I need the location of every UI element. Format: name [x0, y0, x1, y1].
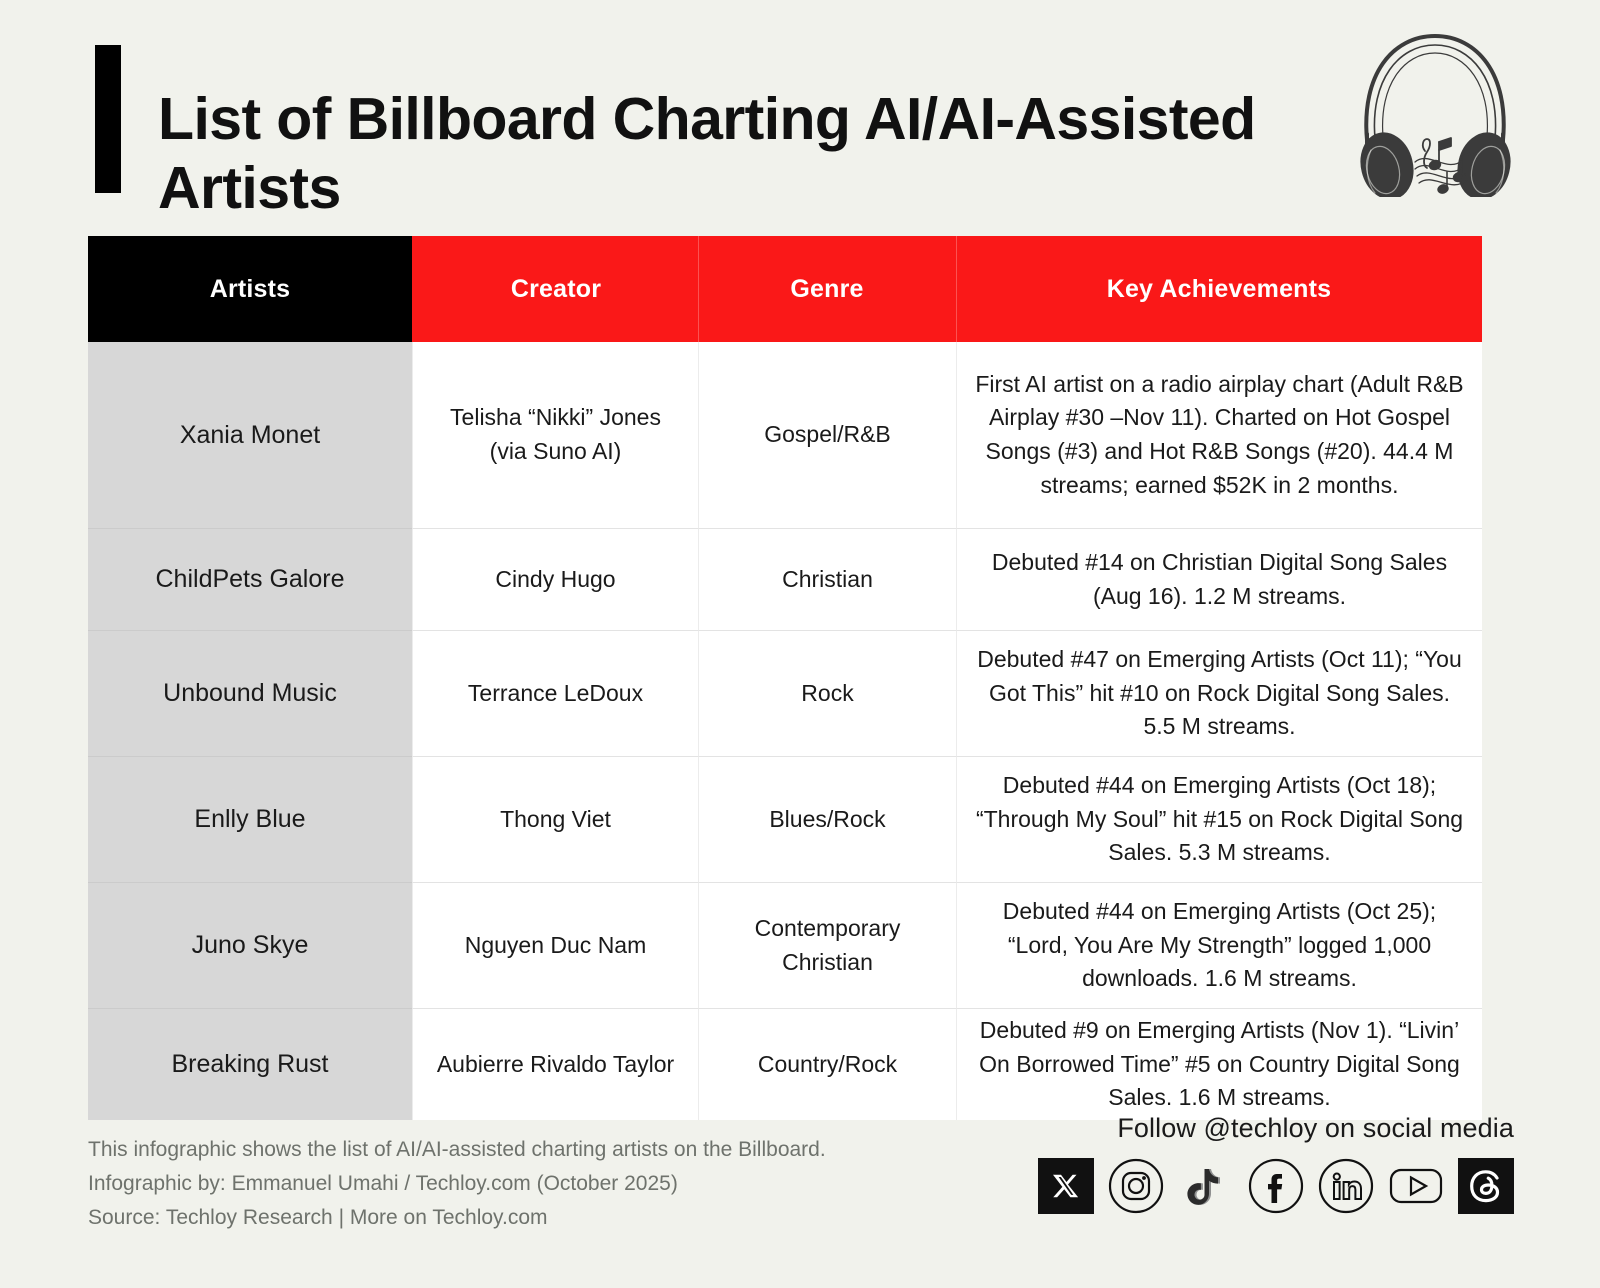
title-accent-bar [95, 45, 121, 193]
column-header-genre: Genre [698, 236, 956, 342]
table-row: ChildPets Galore Cindy Hugo Christian De… [88, 528, 1482, 630]
instagram-icon[interactable] [1108, 1158, 1164, 1214]
cell-genre: Gospel/R&B [698, 342, 956, 528]
cell-creator: Telisha “Nikki” Jones (via Suno AI) [412, 342, 698, 528]
table-row: Enlly Blue Thong Viet Blues/Rock Debuted… [88, 756, 1482, 882]
cell-genre: Christian [698, 528, 956, 630]
cell-artist: Enlly Blue [88, 756, 412, 882]
cell-achievement: Debuted #14 on Christian Digital Song Sa… [956, 528, 1482, 630]
column-header-artists: Artists [88, 236, 412, 342]
column-header-creator: Creator [412, 236, 698, 342]
headphones-with-music-notes-icon [1343, 22, 1528, 197]
cell-artist: Juno Skye [88, 882, 412, 1008]
cell-creator: Nguyen Duc Nam [412, 882, 698, 1008]
cell-achievement: Debuted #47 on Emerging Artists (Oct 11)… [956, 630, 1482, 756]
cell-achievement: First AI artist on a radio airplay chart… [956, 342, 1482, 528]
title-block: List of Billboard Charting AI/AI-Assiste… [95, 45, 1278, 263]
cell-genre: Rock [698, 630, 956, 756]
table-header-row: Artists Creator Genre Key Achievements [88, 236, 1482, 342]
footer-description: This infographic shows the list of AI/AI… [88, 1133, 826, 1167]
cell-artist: ChildPets Galore [88, 528, 412, 630]
cell-genre: Country/Rock [698, 1008, 956, 1120]
cell-creator: Terrance LeDoux [412, 630, 698, 756]
cell-creator: Aubierre Rivaldo Taylor [412, 1008, 698, 1120]
tiktok-icon[interactable] [1178, 1158, 1234, 1214]
table-body: Xania Monet Telisha “Nikki” Jones (via S… [88, 342, 1482, 1120]
follow-block: Follow @techloy on social media [1038, 1113, 1514, 1214]
footer-credit: Infographic by: Emmanuel Umahi / Techloy… [88, 1167, 826, 1201]
cell-creator: Cindy Hugo [412, 528, 698, 630]
footer-source: Source: Techloy Research | More on Techl… [88, 1201, 826, 1235]
cell-genre: Blues/Rock [698, 756, 956, 882]
artists-table: Artists Creator Genre Key Achievements X… [88, 236, 1482, 1120]
cell-achievement: Debuted #44 on Emerging Artists (Oct 18)… [956, 756, 1482, 882]
table-row: Unbound Music Terrance LeDoux Rock Debut… [88, 630, 1482, 756]
table-row: Juno Skye Nguyen Duc Nam Contemporary Ch… [88, 882, 1482, 1008]
x-twitter-icon[interactable] [1038, 1158, 1094, 1214]
youtube-icon[interactable] [1388, 1158, 1444, 1214]
table-row: Breaking Rust Aubierre Rivaldo Taylor Co… [88, 1008, 1482, 1120]
infographic-header: List of Billboard Charting AI/AI-Assiste… [0, 0, 1600, 232]
cell-achievement: Debuted #44 on Emerging Artists (Oct 25)… [956, 882, 1482, 1008]
column-header-key-achievements: Key Achievements [956, 236, 1482, 342]
cell-artist: Breaking Rust [88, 1008, 412, 1120]
linkedin-icon[interactable] [1318, 1158, 1374, 1214]
page-title: List of Billboard Charting AI/AI-Assiste… [158, 85, 1278, 224]
cell-artist: Xania Monet [88, 342, 412, 528]
table-row: Xania Monet Telisha “Nikki” Jones (via S… [88, 342, 1482, 528]
cell-genre: Contemporary Christian [698, 882, 956, 1008]
social-links [1038, 1158, 1514, 1214]
cell-creator: Thong Viet [412, 756, 698, 882]
follow-label: Follow @techloy on social media [1038, 1113, 1514, 1144]
cell-achievement: Debuted #9 on Emerging Artists (Nov 1). … [956, 1008, 1482, 1120]
threads-icon[interactable] [1458, 1158, 1514, 1214]
facebook-icon[interactable] [1248, 1158, 1304, 1214]
cell-artist: Unbound Music [88, 630, 412, 756]
footer-credits: This infographic shows the list of AI/AI… [88, 1133, 826, 1235]
